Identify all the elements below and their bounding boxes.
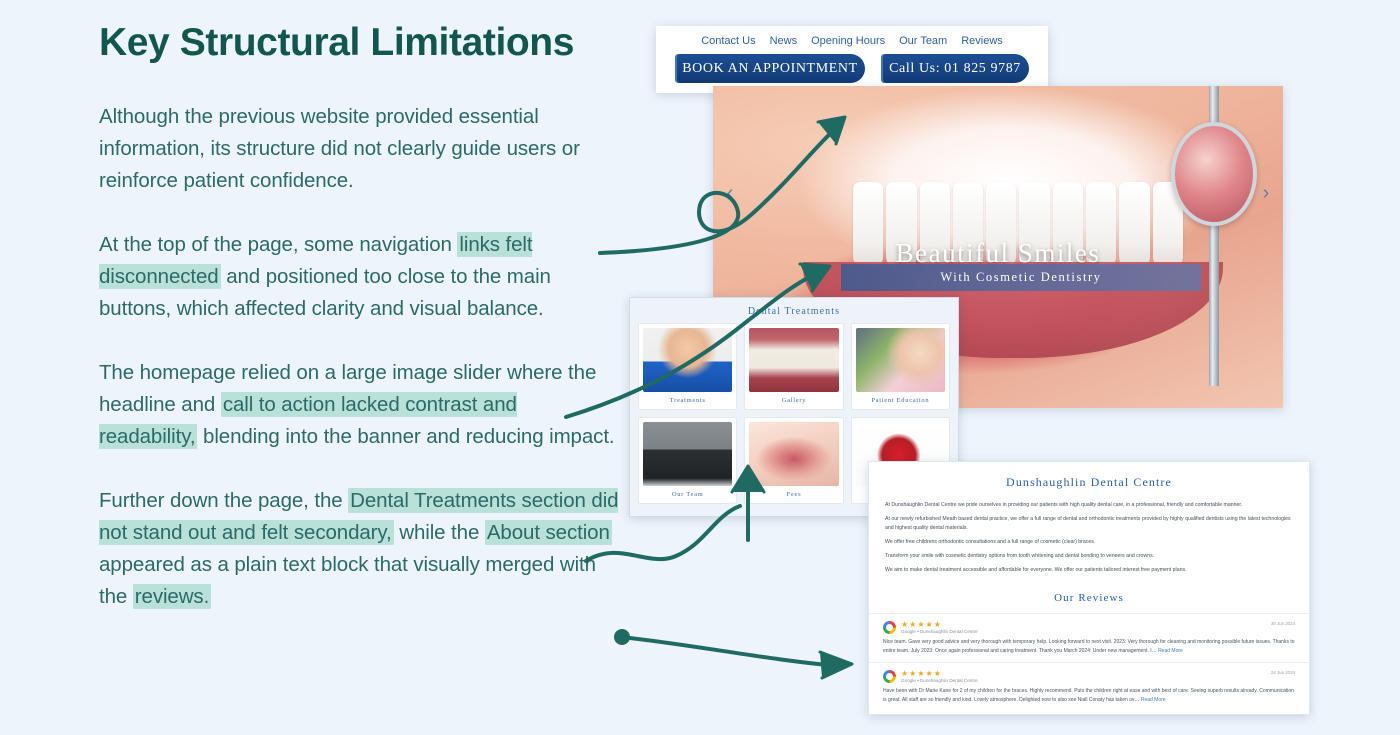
paragraph-3-tail: blending into the banner and reducing im… [197,425,614,448]
paragraph-2: At the top of the page, some navigation … [99,229,619,325]
about-paragraph: At our newly refurbished Meath based den… [869,515,1309,533]
grid-section-title: Dental Treatments [630,298,958,323]
review-meta: ★★★★★ Google • Dunshaughlin Dental Centr… [901,669,978,684]
paragraph-3: The homepage relied on a large image sli… [99,357,619,453]
treatment-card-label: Treatments [643,392,732,409]
review-body-text: Nice team. Gave very good advice and ver… [883,639,1295,654]
about-paragraph: At Dunshaughlin Dental Centre we pride o… [869,501,1309,510]
slider-prev-icon[interactable]: ‹ [719,182,741,204]
teeth-closeup-photo [749,328,838,392]
dental-mirror-photo [749,422,838,486]
team-group-photo [643,422,732,486]
book-appointment-button[interactable]: BOOK AN APPOINTMENT [675,54,865,83]
read-more-link[interactable]: Read More [1141,697,1166,703]
call-us-button[interactable]: Call Us: 01 825 9787 [881,54,1029,83]
about-section-title: Dunshaughlin Dental Centre [869,462,1309,501]
paragraph-4-highlight-2: About section [485,520,612,545]
slide-canvas: Key Structural Limitations Although the … [0,0,1400,735]
review-body: Have been with Dr Marie Kane for 2 of my… [883,687,1295,705]
nav-button-row: BOOK AN APPOINTMENT Call Us: 01 825 9787 [656,54,1048,83]
paragraph-4: Further down the page, the Dental Treatm… [99,485,619,613]
slider-next-icon[interactable]: › [1255,182,1277,204]
hero-subheadline: With Cosmetic Dentistry [841,264,1201,291]
review-item: 24 Jun 2024 ★★★★★ Google • Dunshaughlin … [869,662,1309,711]
treatment-card-label: Patient Education [856,392,945,409]
treatment-card-patient-education[interactable]: Patient Education [851,323,950,410]
nav-link-opening-hours[interactable]: Opening Hours [811,35,885,47]
navigation-bar-screenshot: Contact Us News Opening Hours Our Team R… [656,26,1048,93]
text-column: Key Structural Limitations Although the … [99,22,619,645]
reviews-section-title: Our Reviews [869,581,1309,613]
arrow-to-reviews [630,638,838,666]
nav-links: Contact Us News Opening Hours Our Team R… [656,26,1048,47]
review-body-text: Have been with Dr Marie Kane for 2 of my… [883,688,1294,703]
google-icon [883,670,896,683]
child-model-photo [856,328,945,392]
about-paragraph: We offer free childrens orthodontic cons… [869,538,1309,547]
arrow-to-reviews-head [820,652,852,678]
review-meta: ★★★★★ Google • Dunshaughlin Dental Centr… [901,620,978,635]
nav-link-reviews[interactable]: Reviews [961,35,1003,47]
treatment-card-label: Fees [749,486,838,503]
treatment-card-treatments[interactable]: Treatments [638,323,737,410]
nav-link-news[interactable]: News [770,35,798,47]
review-date: 24 Jun 2024 [1271,670,1295,675]
review-date: 30 Jun 2024 [1271,621,1295,626]
review-header: ★★★★★ Google • Dunshaughlin Dental Centr… [883,669,1295,684]
review-source: Google • Dunshaughlin Dental Centre [901,629,978,635]
treatment-card-label: Our Team [643,486,732,503]
treatment-card-fees[interactable]: Fees [744,417,843,504]
treatment-card-gallery[interactable]: Gallery [744,323,843,410]
page-title: Key Structural Limitations [99,22,619,65]
paragraph-4-mid: while the [394,521,485,544]
paragraph-1-text: Although the previous website provided e… [99,105,580,192]
treatment-card-our-team[interactable]: Our Team [638,417,737,504]
review-header: ★★★★★ Google • Dunshaughlin Dental Centr… [883,620,1295,635]
read-more-link[interactable]: Read More [1158,648,1183,654]
about-paragraph: Transform your smile with cosmetic denti… [869,552,1309,561]
about-paragraph: We aim to make dental treatment accessib… [869,566,1309,575]
review-item: 30 Jun 2024 ★★★★★ Google • Dunshaughlin … [869,613,1309,662]
review-body: Nice team. Gave very good advice and ver… [883,638,1295,656]
review-source: Google • Dunshaughlin Dental Centre [901,678,978,684]
nav-link-our-team[interactable]: Our Team [899,35,947,47]
nav-link-contact-us[interactable]: Contact Us [701,35,755,47]
google-icon [883,621,896,634]
paragraph-4-lead: Further down the page, the [99,489,348,512]
review-star-rating: ★★★★★ [901,620,978,630]
review-star-rating: ★★★★★ [901,669,978,679]
boy-braces-photo [643,328,732,392]
paragraph-1: Although the previous website provided e… [99,101,619,197]
about-and-reviews-screenshot: Dunshaughlin Dental Centre At Dunshaughl… [868,461,1310,715]
treatment-card-label: Gallery [749,392,838,409]
paragraph-4-highlight-3: reviews. [133,584,211,609]
paragraph-2-lead: At the top of the page, some navigation [99,233,457,256]
dental-mirror-head [1171,122,1257,226]
